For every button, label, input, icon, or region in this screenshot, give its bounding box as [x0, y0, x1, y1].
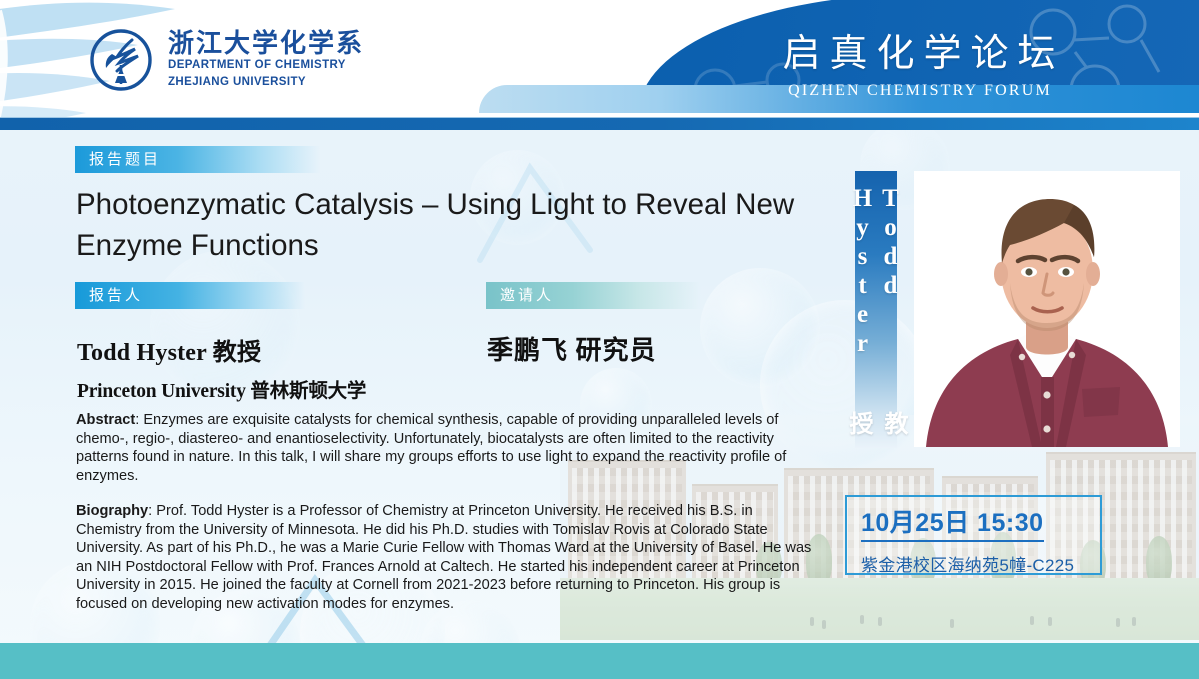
speaker-affiliation: Princeton University 普林斯顿大学: [77, 374, 366, 403]
forum-title-en: QIZHEN CHEMISTRY FORUM: [639, 82, 1199, 100]
event-datetime: 10月25日 15:30: [861, 503, 1044, 542]
zju-emblem-icon: [88, 27, 154, 93]
bubble-decor: [700, 268, 820, 388]
talk-title-label: 报告题目: [75, 146, 320, 173]
abstract-heading: Abstract: [76, 412, 135, 428]
forum-title-cn: 启真化学论坛: [639, 22, 1199, 77]
logo-text-en-line1: DEPARTMENT OF CHEMISTRY: [168, 57, 364, 74]
speaker-name: Todd Hyster 教授: [77, 332, 261, 367]
logo-text-cn: 浙江大学化学系: [168, 30, 364, 57]
abstract-paragraph: Abstract: Enzymes are exquisite catalyst…: [76, 411, 818, 485]
poster-header: 启真化学论坛 QIZHEN CHEMISTRY FORUM 浙江大学化学系 DE…: [0, 0, 1199, 119]
speaker-portrait: [914, 171, 1180, 447]
event-datetime-box: 10月25日 15:30 紫金港校区海纳苑5幢-C225: [845, 495, 1102, 575]
speaker-label: 报告人: [75, 282, 305, 309]
footer-bar: [0, 643, 1199, 679]
inviter-name: 季鹏飞 研究员: [487, 330, 657, 367]
portrait-illustration: [914, 171, 1180, 447]
zju-logo: 浙江大学化学系 DEPARTMENT OF CHEMISTRY ZHEJIANG…: [88, 27, 364, 93]
biography-body: Prof. Todd Hyster is a Professor of Chem…: [76, 503, 811, 612]
speaker-vertical-title: 教授: [841, 411, 911, 448]
seminar-poster: 启真化学论坛 QIZHEN CHEMISTRY FORUM 浙江大学化学系 DE…: [0, 0, 1199, 679]
biography-heading: Biography: [76, 503, 148, 519]
inviter-label: 邀请人: [486, 282, 701, 309]
abstract-body: Enzymes are exquisite catalysts for chem…: [76, 412, 786, 484]
header-divider: [0, 117, 1199, 130]
speaker-vertical-strip: Todd Hyster 教授: [855, 171, 897, 448]
logo-text-en-line2: ZHEJIANG UNIVERSITY: [168, 74, 364, 91]
event-location: 紫金港校区海纳苑5幢-C225: [861, 551, 1100, 576]
talk-title: Photoenzymatic Catalysis – Using Light t…: [76, 184, 836, 266]
biography-paragraph: Biography: Prof. Todd Hyster is a Profes…: [76, 502, 818, 614]
speaker-vertical-name: Todd Hyster: [848, 185, 904, 403]
